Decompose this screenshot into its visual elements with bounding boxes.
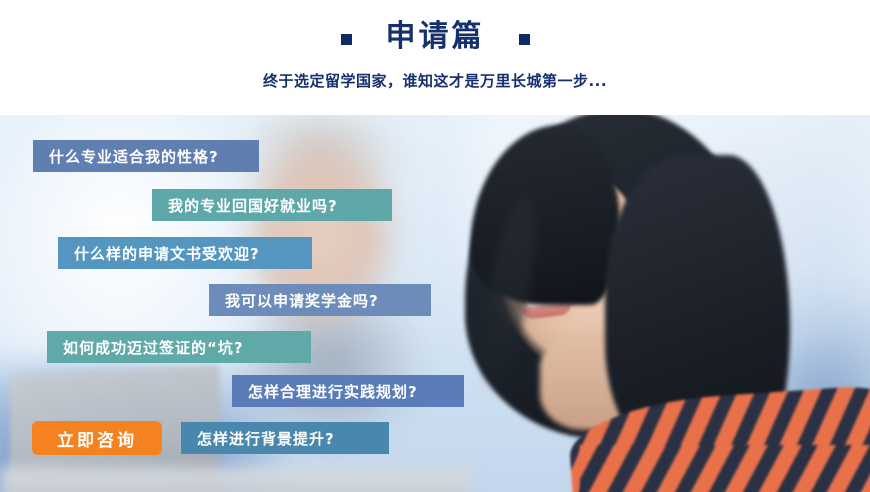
question-chip-label: 我的专业回国好就业吗? [168,195,338,216]
banner-photo: 什么专业适合我的性格?我的专业回国好就业吗?什么样的申请文书受欢迎?我可以申请奖… [0,115,870,492]
question-chip-label: 如何成功迈过签证的“坑? [63,337,244,358]
question-chip[interactable]: 怎样合理进行实践规划? [232,375,464,407]
page-title: 申请篇 [386,22,485,52]
question-chip-label: 什么专业适合我的性格? [49,146,219,167]
question-chip-label: 我可以申请奖学金吗? [225,290,379,311]
question-chip-label: 怎样合理进行实践规划? [248,381,418,402]
square-bullet-right-icon [519,34,530,45]
question-chip[interactable]: 什么专业适合我的性格? [33,140,259,172]
question-chip[interactable]: 怎样进行背景提升? [181,422,389,454]
page-subtitle: 终于选定留学国家，谁知这才是万里长城第一步... [0,70,870,91]
question-chip[interactable]: 我的专业回国好就业吗? [152,189,392,221]
promo-banner-page: 申请篇 终于选定留学国家，谁知这才是万里长城第一步... [0,0,870,492]
question-chip[interactable]: 什么样的申请文书受欢迎? [58,237,312,269]
background-desk [0,467,470,492]
consult-now-button[interactable]: 立即咨询 [32,421,162,455]
student-photo-subject [430,115,870,492]
page-header: 申请篇 终于选定留学国家，谁知这才是万里长城第一步... [0,0,870,115]
square-bullet-left-icon [341,34,352,45]
subject-striped-shirt-lower [580,445,870,492]
consult-now-label: 立即咨询 [57,426,137,451]
question-chip[interactable]: 如何成功迈过签证的“坑? [47,331,311,363]
question-chip-label: 怎样进行背景提升? [197,428,335,449]
title-row: 申请篇 [0,22,870,52]
question-chip-label: 什么样的申请文书受欢迎? [74,243,260,264]
question-chip[interactable]: 我可以申请奖学金吗? [209,284,431,316]
